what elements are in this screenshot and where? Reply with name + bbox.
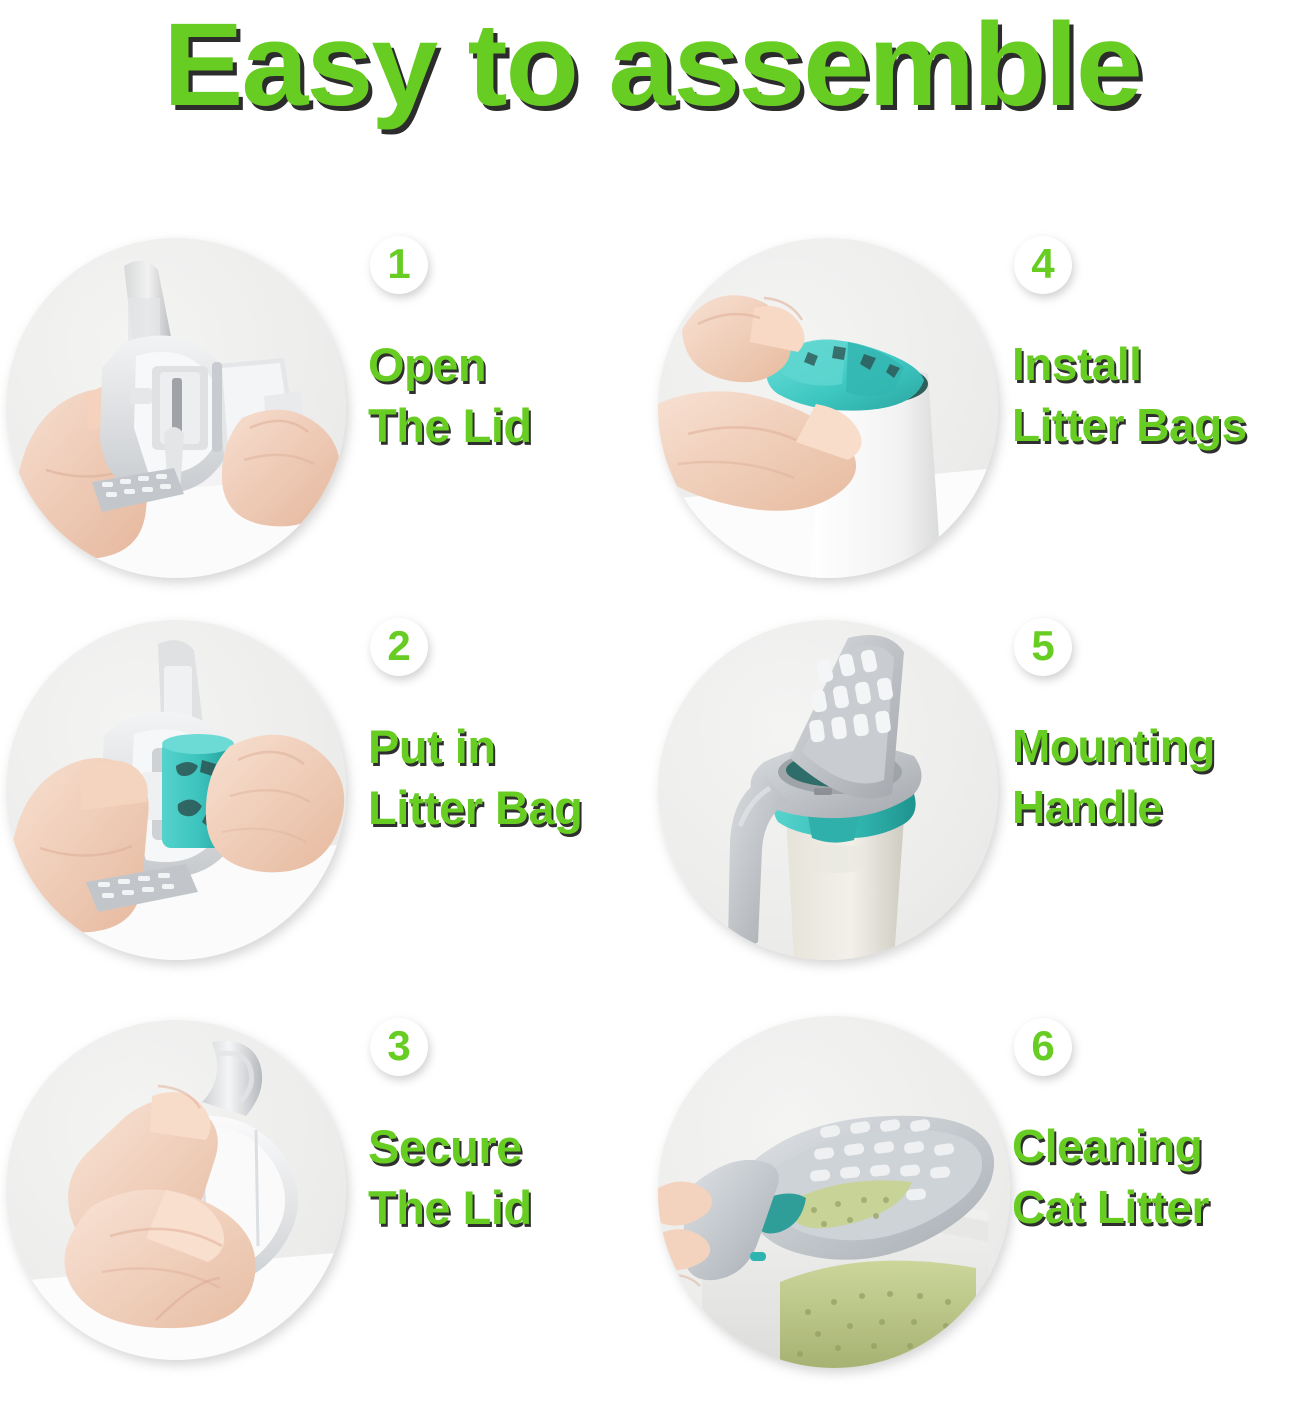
step-number-4: 4: [1014, 236, 1072, 294]
photo-open-the-lid: [6, 238, 346, 578]
step-card-2: 2 Put in Litter Bag: [0, 610, 652, 1000]
step-label-2-line2: Litter Bag: [368, 777, 646, 838]
step-number-5: 5: [1014, 618, 1072, 676]
step-badge-3: 3: [370, 1018, 428, 1076]
step-text-4: 4 Install Litter Bags: [1012, 236, 1304, 456]
step-badge-1: 1: [370, 236, 428, 294]
step-card-3: 3 Secure The Lid: [0, 1010, 652, 1400]
photo-put-in-litter-bag: [6, 620, 346, 960]
step-label-3-line1: Secure: [368, 1120, 522, 1173]
step-label-4-line2: Litter Bags: [1012, 395, 1304, 456]
step-card-4: 4 Install Litter Bags: [652, 228, 1304, 618]
steps-row-2: 2 Put in Litter Bag: [0, 610, 1304, 1000]
step-label-4-line1: Install: [1012, 338, 1141, 390]
step-label-5: Mounting Handle: [1012, 716, 1304, 838]
step-number-2: 2: [370, 618, 428, 676]
step-badge-5: 5: [1014, 618, 1072, 676]
step-label-5-line2: Handle: [1012, 777, 1304, 838]
steps-row-1: 1 Open The Lid: [0, 228, 1304, 618]
step-label-3: Secure The Lid: [368, 1116, 646, 1238]
photo-install-litter-bags: [658, 238, 998, 578]
step-text-5: 5 Mounting Handle: [1012, 618, 1304, 838]
step-badge-6: 6: [1014, 1018, 1072, 1076]
photo-secure-the-lid: [6, 1020, 346, 1360]
step-number-3: 3: [370, 1018, 428, 1076]
photo-cleaning-cat-litter: [658, 1016, 1010, 1368]
step-label-1-line2: The Lid: [368, 395, 646, 456]
step-label-5-line1: Mounting: [1012, 720, 1215, 772]
photo-mounting-handle: [658, 620, 998, 960]
step-label-1: Open The Lid: [368, 334, 646, 456]
step-text-3: 3 Secure The Lid: [368, 1018, 646, 1238]
step-number-6: 6: [1014, 1018, 1072, 1076]
step-label-6-line2: Cat Litter: [1012, 1177, 1304, 1238]
step-number-1: 1: [370, 236, 428, 294]
step-label-3-line2: The Lid: [368, 1177, 646, 1238]
step-text-2: 2 Put in Litter Bag: [368, 618, 646, 838]
step-label-6: Cleaning Cat Litter: [1012, 1116, 1304, 1238]
page-title: Easy to assemble: [0, 6, 1304, 124]
step-label-2-line1: Put in: [368, 720, 496, 773]
step-card-6: 6 Cleaning Cat Litter: [652, 1010, 1304, 1400]
step-badge-4: 4: [1014, 236, 1072, 294]
step-label-6-line1: Cleaning: [1012, 1120, 1202, 1172]
step-text-6: 6 Cleaning Cat Litter: [1012, 1018, 1304, 1238]
step-label-1-line1: Open: [368, 338, 486, 391]
step-badge-2: 2: [370, 618, 428, 676]
step-card-1: 1 Open The Lid: [0, 228, 652, 618]
step-label-2: Put in Litter Bag: [368, 716, 646, 838]
step-text-1: 1 Open The Lid: [368, 236, 646, 456]
step-card-5: 5 Mounting Handle: [652, 610, 1304, 1000]
steps-row-3: 3 Secure The Lid: [0, 1010, 1304, 1400]
step-label-4: Install Litter Bags: [1012, 334, 1304, 456]
